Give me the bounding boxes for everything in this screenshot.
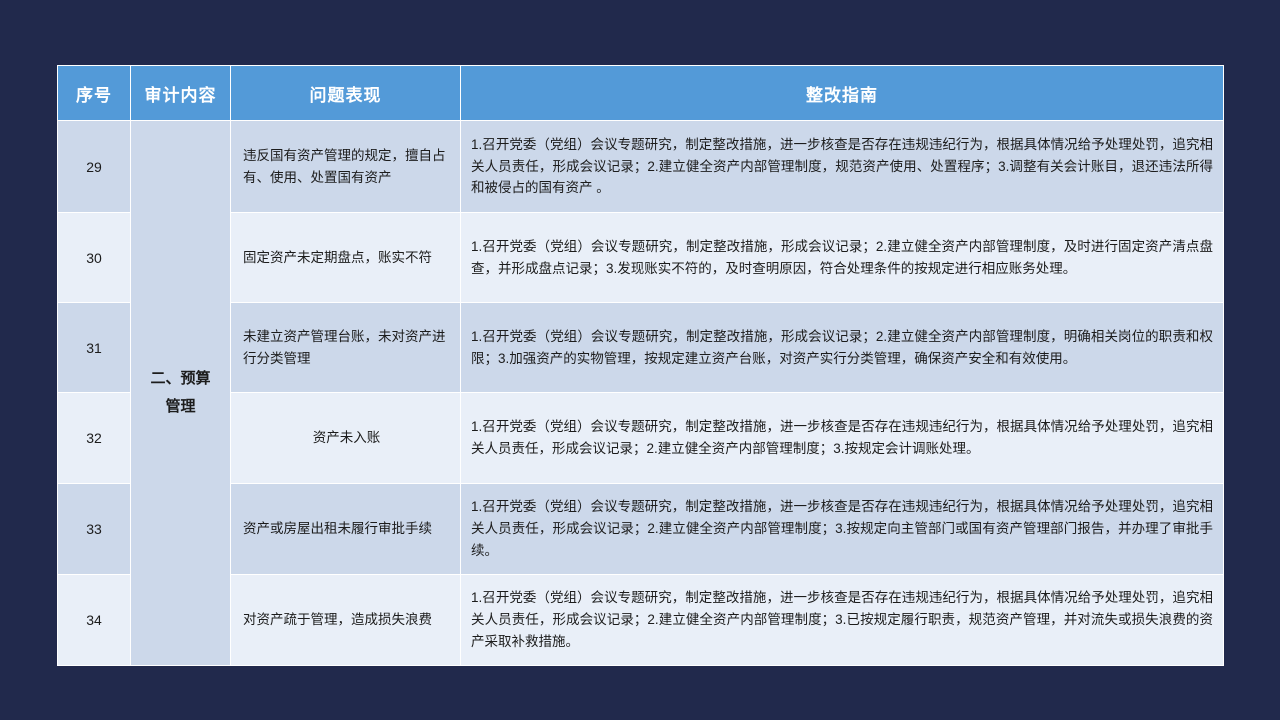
table-row: 29 二、预算 管理 违反国有资产管理的规定，擅自占有、使用、处置国有资产 1.… — [58, 121, 1224, 213]
row-number: 34 — [58, 575, 131, 666]
column-header-guide: 整改指南 — [461, 66, 1224, 121]
problem-text: 固定资产未定期盘点，账实不符 — [231, 213, 461, 303]
audit-category-line-2: 管理 — [132, 393, 229, 422]
guide-text: 1.召开党委（党组）会议专题研究，制定整改措施，形成会议记录；2.建立健全资产内… — [461, 303, 1224, 393]
table-row: 32 资产未入账 1.召开党委（党组）会议专题研究，制定整改措施，进一步核查是否… — [58, 393, 1224, 484]
audit-table: 序号 审计内容 问题表现 整改指南 29 二、预算 管理 违反国有资产管理的规定… — [57, 65, 1224, 666]
table-header: 序号 审计内容 问题表现 整改指南 — [58, 66, 1224, 121]
table-row: 31 未建立资产管理台账，未对资产进行分类管理 1.召开党委（党组）会议专题研究… — [58, 303, 1224, 393]
audit-category-line-1: 二、预算 — [132, 365, 229, 394]
guide-text: 1.召开党委（党组）会议专题研究，制定整改措施，进一步核查是否存在违规违纪行为，… — [461, 121, 1224, 213]
row-number: 32 — [58, 393, 131, 484]
column-header-no: 序号 — [58, 66, 131, 121]
problem-text: 违反国有资产管理的规定，擅自占有、使用、处置国有资产 — [231, 121, 461, 213]
table-row: 30 固定资产未定期盘点，账实不符 1.召开党委（党组）会议专题研究，制定整改措… — [58, 213, 1224, 303]
row-number: 30 — [58, 213, 131, 303]
guide-text: 1.召开党委（党组）会议专题研究，制定整改措施，进一步核查是否存在违规违纪行为，… — [461, 575, 1224, 666]
column-header-problem: 问题表现 — [231, 66, 461, 121]
audit-category-cell: 二、预算 管理 — [131, 121, 231, 666]
table-body: 29 二、预算 管理 违反国有资产管理的规定，擅自占有、使用、处置国有资产 1.… — [58, 121, 1224, 666]
problem-text: 资产或房屋出租未履行审批手续 — [231, 484, 461, 575]
problem-text: 对资产疏于管理，造成损失浪费 — [231, 575, 461, 666]
problem-text: 未建立资产管理台账，未对资产进行分类管理 — [231, 303, 461, 393]
table-row: 33 资产或房屋出租未履行审批手续 1.召开党委（党组）会议专题研究，制定整改措… — [58, 484, 1224, 575]
table-row: 34 对资产疏于管理，造成损失浪费 1.召开党委（党组）会议专题研究，制定整改措… — [58, 575, 1224, 666]
guide-text: 1.召开党委（党组）会议专题研究，制定整改措施，进一步核查是否存在违规违纪行为，… — [461, 393, 1224, 484]
column-header-audit-content: 审计内容 — [131, 66, 231, 121]
table-header-row: 序号 审计内容 问题表现 整改指南 — [58, 66, 1224, 121]
audit-table-container: 序号 审计内容 问题表现 整改指南 29 二、预算 管理 违反国有资产管理的规定… — [57, 65, 1223, 666]
row-number: 29 — [58, 121, 131, 213]
guide-text: 1.召开党委（党组）会议专题研究，制定整改措施，形成会议记录；2.建立健全资产内… — [461, 213, 1224, 303]
guide-text: 1.召开党委（党组）会议专题研究，制定整改措施，进一步核查是否存在违规违纪行为，… — [461, 484, 1224, 575]
slide-canvas: 序号 审计内容 问题表现 整改指南 29 二、预算 管理 违反国有资产管理的规定… — [0, 0, 1280, 720]
row-number: 31 — [58, 303, 131, 393]
problem-text: 资产未入账 — [231, 393, 461, 484]
row-number: 33 — [58, 484, 131, 575]
